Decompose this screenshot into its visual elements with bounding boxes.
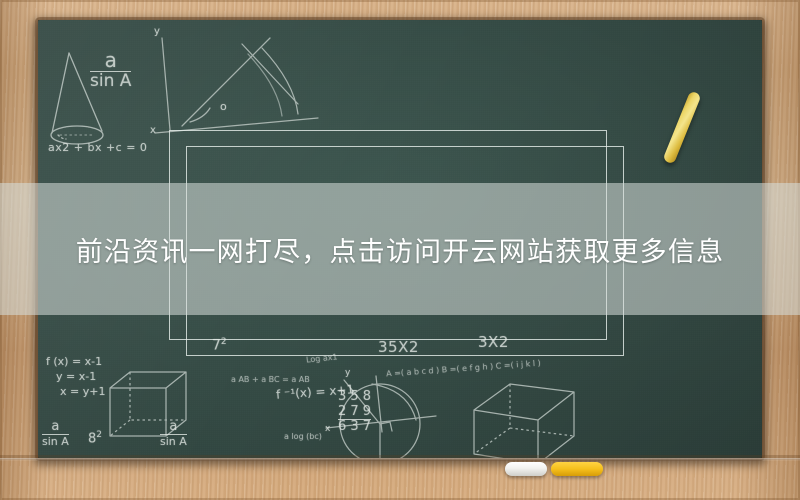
chalkboard-banner: a sin A ax2 + bx +c = 0 y x o [0, 0, 800, 500]
chalk-stick-yellow-ledge [551, 462, 603, 476]
headline-text: 前沿资讯一网打尽，点击访问开云网站获取更多信息 [76, 230, 725, 269]
chalk-stick-white-ledge [505, 462, 547, 476]
overlay-band: 前沿资讯一网打尽，点击访问开云网站获取更多信息 [0, 183, 800, 315]
ledge-highlight [0, 458, 800, 461]
